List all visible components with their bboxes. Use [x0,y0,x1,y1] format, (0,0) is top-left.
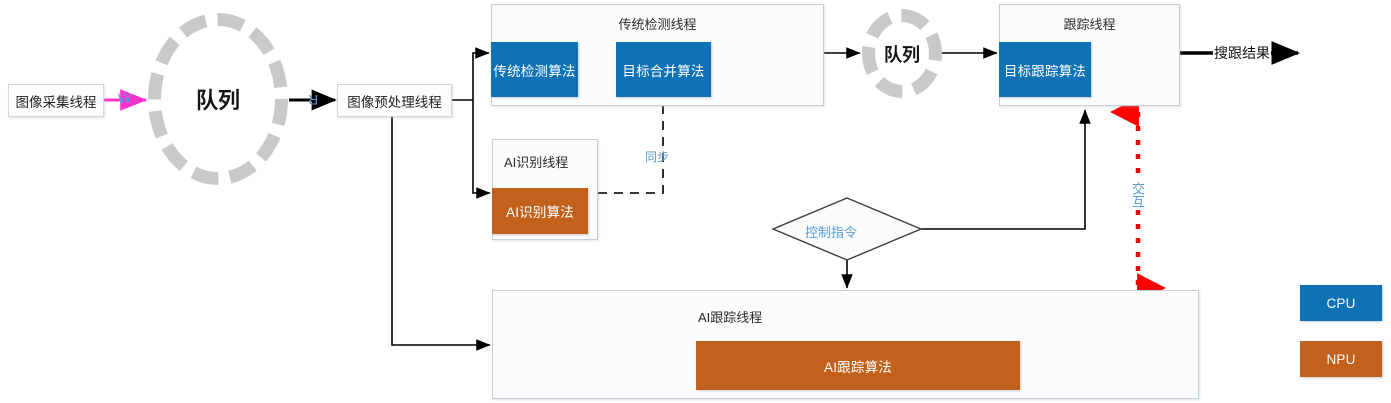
container-ai-recognition-thread: AI识别线程 AI识别算法 [492,139,598,240]
queue-2-label: 队列 [884,41,920,67]
chip-target-tracking-algorithm[interactable]: 目标跟踪算法 [999,42,1091,97]
image-preprocess-thread-label: 图像预处理线程 [347,91,442,111]
container-traditional-detect-thread: 传统检测线程 传统检测算法 目标合并算法 [491,4,824,106]
node-queue-1: 队列 [148,13,288,185]
legend-npu-label: NPU [1326,352,1355,367]
target-merge-algorithm-label: 目标合并算法 [622,60,704,80]
edge-label-sync: 同步 [645,148,669,165]
queue-1-label: 队列 [196,83,240,115]
container-tracking-thread: 跟踪线程 目标跟踪算法 [999,4,1180,106]
image-capture-thread-label: 图像采集线程 [16,91,97,111]
traditional-detect-thread-title: 传统检测线程 [492,14,823,33]
target-tracking-algorithm-label: 目标跟踪算法 [1004,60,1086,80]
chip-target-merge-algorithm[interactable]: 目标合并算法 [616,42,711,97]
node-image-capture-thread[interactable]: 图像采集线程 [8,84,104,117]
ai-tracking-algorithm-label: AI跟踪算法 [824,356,892,376]
diagram-canvas: 图像采集线程 W 队列 R 图像预处理线程 传统检测线程 传统检测算法 目标合并… [0,0,1391,403]
edge-label-output: 搜跟结果 [1213,43,1271,63]
edge-label-interaction: 交互 [1131,182,1144,208]
edge-preprocess-to-ai-tracking [392,115,490,345]
ai-recognition-algorithm-label: AI识别算法 [506,201,574,221]
tracking-thread-title: 跟踪线程 [1000,14,1179,33]
chip-traditional-detect-algorithm[interactable]: 传统检测算法 [491,42,578,97]
edge-preprocess-to-ai-recognition [473,100,490,193]
legend-chip-npu: NPU [1300,341,1382,377]
edge-preprocess-to-traditional [473,53,489,100]
edge-control-to-tracking-thread [921,110,1085,229]
edge-label-write: W [118,90,131,106]
legend-chip-cpu: CPU [1300,285,1382,321]
control-command-label[interactable]: 控制指令 [805,222,857,241]
node-queue-2: 队列 [862,9,942,98]
legend-cpu-label: CPU [1326,296,1355,311]
ai-tracking-thread-title: AI跟踪线程 [698,307,762,326]
traditional-detect-algorithm-label: 传统检测算法 [493,60,575,80]
edge-label-read: R [308,92,318,108]
ai-recognition-thread-title: AI识别线程 [504,152,568,171]
chip-ai-tracking-algorithm[interactable]: AI跟踪算法 [696,341,1020,390]
node-image-preprocess-thread[interactable]: 图像预处理线程 [337,84,452,117]
chip-ai-recognition-algorithm[interactable]: AI识别算法 [492,188,588,234]
container-ai-tracking-thread: AI跟踪线程 AI跟踪算法 [492,290,1199,399]
